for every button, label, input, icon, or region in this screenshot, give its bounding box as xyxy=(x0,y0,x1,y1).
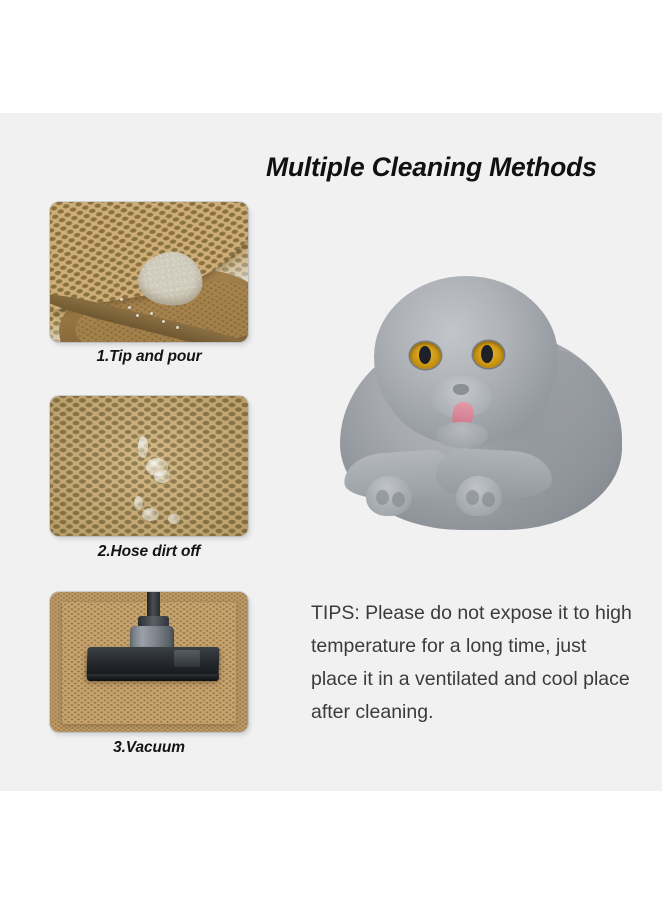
tip-and-pour-photo xyxy=(50,202,248,342)
litter-grain xyxy=(128,306,131,309)
cat-paw-right xyxy=(456,476,502,516)
cat-photo xyxy=(318,238,638,538)
cat-paw-left xyxy=(366,476,412,516)
tips-text: TIPS: Please do not expose it to high te… xyxy=(311,597,633,729)
caption-step-3: 3.Vacuum xyxy=(50,739,248,757)
caption-step-2: 2.Hose dirt off xyxy=(50,543,248,561)
litter-grain xyxy=(162,320,165,323)
cat-toe xyxy=(482,492,495,507)
cat-toe xyxy=(392,492,405,507)
litter-grain xyxy=(150,312,153,315)
photo-vignette xyxy=(50,396,248,536)
hose-dirt-off-photo xyxy=(50,396,248,536)
litter-grain xyxy=(136,314,139,317)
litter-grain xyxy=(176,326,179,329)
litter-grain xyxy=(120,298,123,301)
vacuum-head-brush-strip xyxy=(87,674,219,681)
product-infographic: Multiple Cleaning Methods 1.Tip and pour… xyxy=(0,0,662,903)
page-title: Multiple Cleaning Methods xyxy=(266,152,658,183)
vacuum-head-detail xyxy=(174,650,200,667)
cat-pupil-right xyxy=(481,345,493,363)
cat-pupil-left xyxy=(419,346,431,364)
vacuum-photo xyxy=(50,592,248,732)
caption-step-1: 1.Tip and pour xyxy=(50,348,248,366)
cat-chin xyxy=(436,422,488,448)
cat-toe xyxy=(466,490,479,505)
cat-toe xyxy=(376,490,389,505)
cat-nose xyxy=(453,384,469,395)
